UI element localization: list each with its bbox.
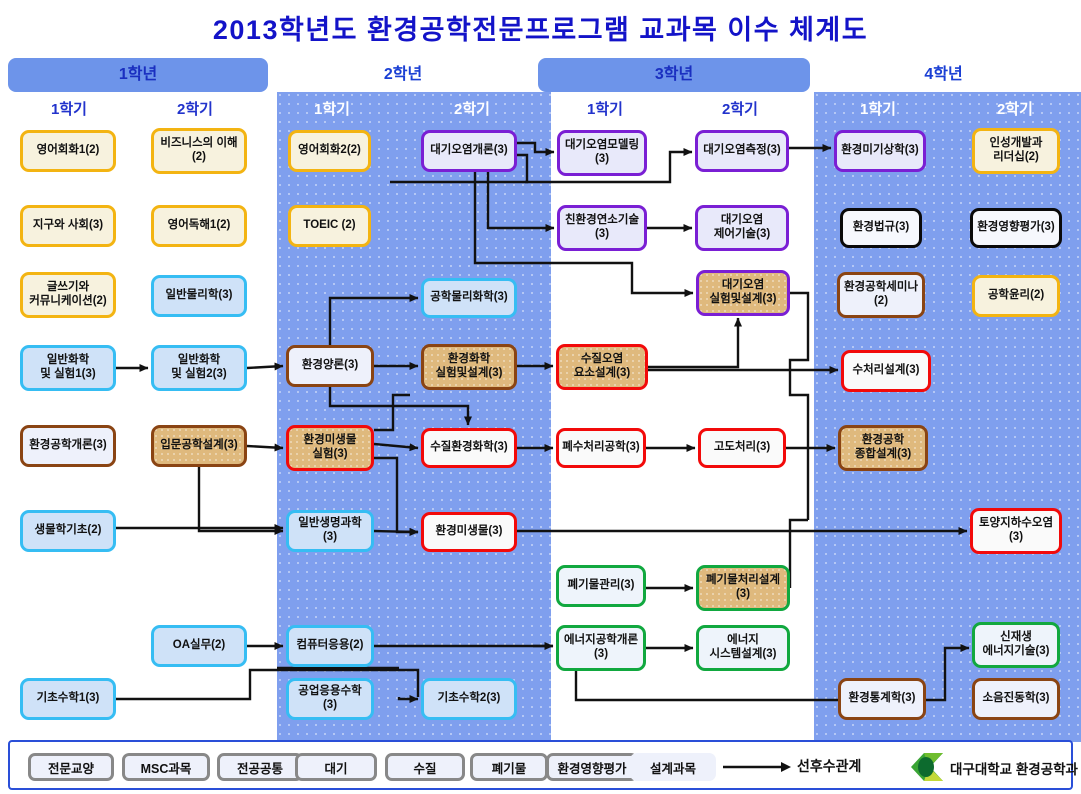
course-label: 대기오염개론(3)	[430, 144, 508, 158]
course-box-y3s2-watertreat[interactable]: 수처리설계(3)	[841, 350, 931, 392]
course-label: 환경미기상학(3)	[841, 144, 919, 158]
course-box-y2s1-envmicrolab[interactable]: 환경미생물 실험(3)	[286, 425, 374, 471]
course-label: 영어회화2(2)	[298, 144, 361, 158]
course-box-y1s1-writing[interactable]: 글쓰기와 커뮤니케이션(2)	[20, 272, 116, 318]
course-box-y3s2-aircontrol[interactable]: 대기오염 제어기술(3)	[695, 205, 789, 251]
course-label: 토양지하수오염 (3)	[979, 517, 1053, 544]
course-box-y4s1-compdesign[interactable]: 환경공학 종합설계(3)	[838, 425, 928, 471]
course-label: 일반화학 및 실험2(3)	[171, 354, 226, 381]
prerequisite-connectors	[0, 0, 1081, 794]
course-label: 수질오염 요소설계(3)	[574, 353, 630, 380]
course-box-y4s1-seminar[interactable]: 환경공학세미나 (2)	[837, 272, 925, 318]
course-box-y4s2-leadership[interactable]: 인성개발과 리더십(2)	[972, 128, 1060, 174]
course-box-y2s1-genlife[interactable]: 일반생명과학(3)	[286, 510, 374, 552]
course-label: 신재생 에너지기술(3)	[983, 631, 1050, 658]
course-box-y2s2-engphyschem[interactable]: 공학물리화학(3)	[421, 278, 517, 318]
course-box-y3s2-airdesign[interactable]: 대기오염 실험및설계(3)	[696, 270, 790, 316]
course-label: 수처리설계(3)	[853, 364, 920, 378]
course-label: TOEIC (2)	[303, 219, 355, 233]
course-box-y2s1-indmath[interactable]: 공업응용수학(3)	[286, 678, 374, 720]
course-label: 대기오염측정(3)	[703, 144, 781, 158]
course-label: 폐수처리공학(3)	[562, 441, 640, 455]
course-label: 인성개발과 리더십(2)	[990, 137, 1043, 164]
course-box-y4s2-eia[interactable]: 환경영향평가(3)	[970, 208, 1062, 248]
course-box-y2s2-envmicro[interactable]: 환경미생물(3)	[421, 512, 517, 552]
course-label: 환경미생물 실험(3)	[304, 434, 357, 461]
course-label: 생물학기초(2)	[35, 524, 102, 538]
course-box-y1s2-physics[interactable]: 일반물리학(3)	[151, 275, 247, 317]
course-box-y1s2-oa[interactable]: OA실무(2)	[151, 625, 247, 667]
course-label: 에너지 시스템설계(3)	[710, 634, 777, 661]
course-box-y1s1-english1[interactable]: 영어회화1(2)	[20, 130, 116, 172]
course-label: 영어독해1(2)	[168, 219, 231, 233]
course-label: 대기오염모델링 (3)	[565, 139, 639, 166]
course-label: 친환경연소기술 (3)	[565, 214, 639, 241]
course-box-y1s2-chem2[interactable]: 일반화학 및 실험2(3)	[151, 345, 247, 391]
course-box-y2s1-envchem[interactable]: 환경양론(3)	[286, 345, 374, 387]
course-label: 컴퓨터응용(2)	[297, 639, 364, 653]
course-box-y3s1-combust[interactable]: 친환경연소기술 (3)	[557, 205, 647, 251]
course-label: 대기오염 제어기술(3)	[714, 214, 770, 241]
course-box-y3s1-wastemgmt[interactable]: 폐기물관리(3)	[556, 565, 646, 607]
course-box-y1s1-math1[interactable]: 기초수학1(3)	[20, 678, 116, 720]
course-label: 기초수학2(3)	[438, 692, 501, 706]
course-box-y4s1-envlaw[interactable]: 환경법규(3)	[840, 208, 922, 248]
course-box-y4s2-noise[interactable]: 소음진동학(3)	[972, 678, 1060, 720]
course-box-y1s1-envintro[interactable]: 환경공학개론(3)	[20, 425, 116, 467]
course-box-y2s2-airintro[interactable]: 대기오염개론(3)	[421, 130, 517, 172]
course-box-y2s2-math2[interactable]: 기초수학2(3)	[421, 678, 517, 720]
course-label: 환경양론(3)	[302, 359, 358, 373]
curriculum-flowchart-page: 2013학년도 환경공학전문프로그램 교과목 이수 체계도 1학년2학년3학년4…	[0, 0, 1081, 794]
course-label: 환경통계학(3)	[849, 692, 916, 706]
course-label: 환경미생물(3)	[436, 525, 503, 539]
course-box-y3s1-waterdes[interactable]: 수질오염 요소설계(3)	[556, 344, 648, 390]
course-label: 영어회화1(2)	[37, 144, 100, 158]
course-label: 기초수학1(3)	[37, 692, 100, 706]
course-label: 공학윤리(2)	[988, 289, 1044, 303]
course-box-y3s2-wastedes[interactable]: 폐기물처리설계 (3)	[696, 565, 790, 611]
course-label: 환경공학세미나 (2)	[844, 281, 918, 308]
course-box-y2s2-envchemlab[interactable]: 환경화학 실험및설계(3)	[421, 344, 517, 390]
course-label: 지구와 사회(3)	[33, 219, 103, 233]
course-label: 환경공학개론(3)	[29, 439, 107, 453]
course-label: 환경공학 종합설계(3)	[855, 434, 911, 461]
course-box-y3s1-wastewater[interactable]: 폐수처리공학(3)	[556, 428, 646, 468]
course-box-y2s1-toeic[interactable]: TOEIC (2)	[288, 205, 371, 247]
course-label: 에너지공학개론 (3)	[564, 634, 638, 661]
course-box-y4s2-ethics[interactable]: 공학윤리(2)	[972, 275, 1060, 317]
course-box-y4s2-soilgw[interactable]: 토양지하수오염 (3)	[970, 508, 1062, 554]
course-box-y3s2-airmeasure[interactable]: 대기오염측정(3)	[695, 130, 789, 172]
course-label: 폐기물관리(3)	[568, 579, 635, 593]
course-box-y3s1-airmodel[interactable]: 대기오염모델링 (3)	[557, 130, 647, 176]
course-label: 폐기물처리설계 (3)	[706, 574, 780, 601]
course-box-y1s1-chem1[interactable]: 일반화학 및 실험1(3)	[20, 345, 116, 391]
course-label: 소음진동학(3)	[983, 692, 1050, 706]
course-label: 수질환경화학(3)	[430, 441, 508, 455]
course-label: 입문공학설계(3)	[160, 439, 238, 453]
course-label: OA실무(2)	[173, 639, 225, 653]
course-label: 일반화학 및 실험1(3)	[40, 354, 95, 381]
course-box-y1s1-bio[interactable]: 생물학기초(2)	[20, 510, 116, 552]
course-box-y3s1-energyint[interactable]: 에너지공학개론 (3)	[556, 625, 646, 671]
course-box-y1s2-business[interactable]: 비즈니스의 이해 (2)	[151, 128, 247, 174]
course-box-y3s2-energysys[interactable]: 에너지 시스템설계(3)	[696, 625, 790, 671]
course-label: 일반생명과학(3)	[292, 517, 368, 544]
course-box-y3s2-advtreat[interactable]: 고도처리(3)	[698, 428, 786, 468]
course-label: 환경화학 실험및설계(3)	[436, 353, 503, 380]
course-label: 비즈니스의 이해 (2)	[160, 137, 237, 164]
course-box-y1s2-reading1[interactable]: 영어독해1(2)	[151, 205, 247, 247]
course-label: 공학물리화학(3)	[430, 291, 508, 305]
course-label: 일반물리학(3)	[166, 289, 233, 303]
course-label: 환경법규(3)	[853, 221, 909, 235]
course-box-y4s2-renewable[interactable]: 신재생 에너지기술(3)	[972, 622, 1060, 668]
course-box-y2s1-computer[interactable]: 컴퓨터응용(2)	[286, 625, 374, 667]
course-label: 글쓰기와 커뮤니케이션(2)	[29, 281, 107, 308]
course-box-y1s2-introdes[interactable]: 입문공학설계(3)	[151, 425, 247, 467]
course-box-y2s2-waterchem[interactable]: 수질환경화학(3)	[421, 428, 517, 468]
course-label: 대기오염 실험및설계(3)	[710, 279, 777, 306]
course-box-y4s1-envstats[interactable]: 환경통계학(3)	[838, 678, 926, 720]
course-label: 고도처리(3)	[714, 441, 770, 455]
course-box-y1s1-earth[interactable]: 지구와 사회(3)	[20, 205, 116, 247]
course-box-y4s1-micromet[interactable]: 환경미기상학(3)	[834, 130, 926, 172]
course-label: 공업응용수학(3)	[292, 685, 368, 712]
course-box-y2s1-english2[interactable]: 영어회화2(2)	[288, 130, 371, 172]
course-label: 환경영향평가(3)	[977, 221, 1055, 235]
